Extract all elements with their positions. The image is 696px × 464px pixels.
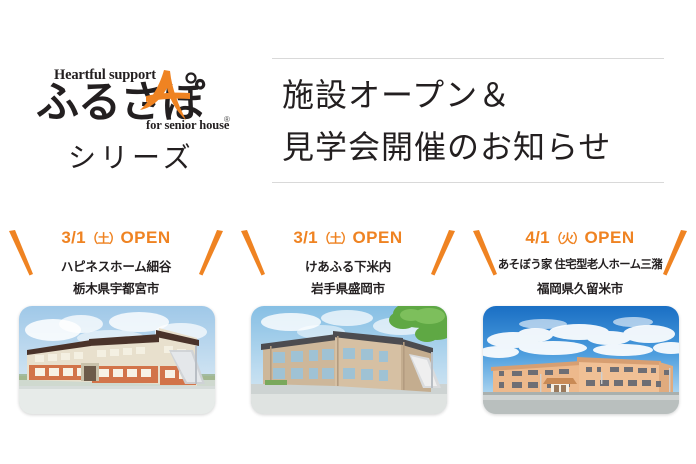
facility-card[interactable]: 3/1（土）OPEN ハピネスホーム細谷 栃木県宇都宮市	[0, 214, 232, 434]
open-date-value: 3/1	[61, 228, 86, 247]
open-word: OPEN	[352, 228, 402, 247]
poster-header: Heartful support ふるさぽ ® for senior house…	[0, 0, 696, 200]
brand-series-label: シリーズ	[68, 136, 195, 176]
page-title: 施設オープン＆ 見学会開催のお知らせ	[272, 58, 664, 184]
open-day-value: （土）	[318, 232, 353, 246]
open-date-value: 4/1	[525, 228, 550, 247]
facility-location: 栃木県宇都宮市	[0, 278, 232, 297]
facility-card-list: 3/1（土）OPEN ハピネスホーム細谷 栃木県宇都宮市	[0, 214, 696, 434]
open-date-value: 3/1	[293, 228, 318, 247]
facility-name: あそぼう家 住宅型老人ホーム三潴	[464, 256, 696, 272]
open-word: OPEN	[120, 228, 170, 247]
facility-location: 福岡県久留米市	[464, 278, 696, 297]
facility-photo	[19, 306, 215, 414]
open-date-label: 3/1（土）OPEN	[0, 228, 232, 248]
facility-photo	[483, 306, 679, 414]
headline-line-1: 施設オープン＆	[282, 68, 511, 122]
open-word: OPEN	[584, 228, 634, 247]
open-day-value: （火）	[550, 232, 585, 246]
poster-canvas: Heartful support ふるさぽ ® for senior house…	[0, 0, 696, 464]
facility-name: ハピネスホーム細谷	[0, 256, 232, 275]
facility-card[interactable]: 3/1（土）OPEN けあふる下米内 岩手県盛岡市	[232, 214, 464, 434]
brand-logo: Heartful support ふるさぽ ® for senior house…	[34, 62, 250, 180]
open-date-label: 4/1（火）OPEN	[464, 228, 696, 248]
headline-rule-top	[272, 58, 664, 59]
facility-card-header: 3/1（土）OPEN ハピネスホーム細谷 栃木県宇都宮市	[0, 214, 232, 300]
open-date-label: 3/1（土）OPEN	[232, 228, 464, 248]
facility-card-header: 3/1（土）OPEN けあふる下米内 岩手県盛岡市	[232, 214, 464, 300]
brand-tagline-bottom: for senior house	[146, 118, 229, 133]
facility-photo	[251, 306, 447, 414]
facility-location: 岩手県盛岡市	[232, 278, 464, 297]
headline-line-2: 見学会開催のお知らせ	[282, 120, 611, 174]
open-day-value: （土）	[86, 232, 121, 246]
facility-name: けあふる下米内	[232, 256, 464, 275]
facility-card[interactable]: 4/1（火）OPEN あそぼう家 住宅型老人ホーム三潴 福岡県久留米市	[464, 214, 696, 434]
headline-rule-bottom	[272, 182, 664, 183]
facility-card-header: 4/1（火）OPEN あそぼう家 住宅型老人ホーム三潴 福岡県久留米市	[464, 214, 696, 300]
